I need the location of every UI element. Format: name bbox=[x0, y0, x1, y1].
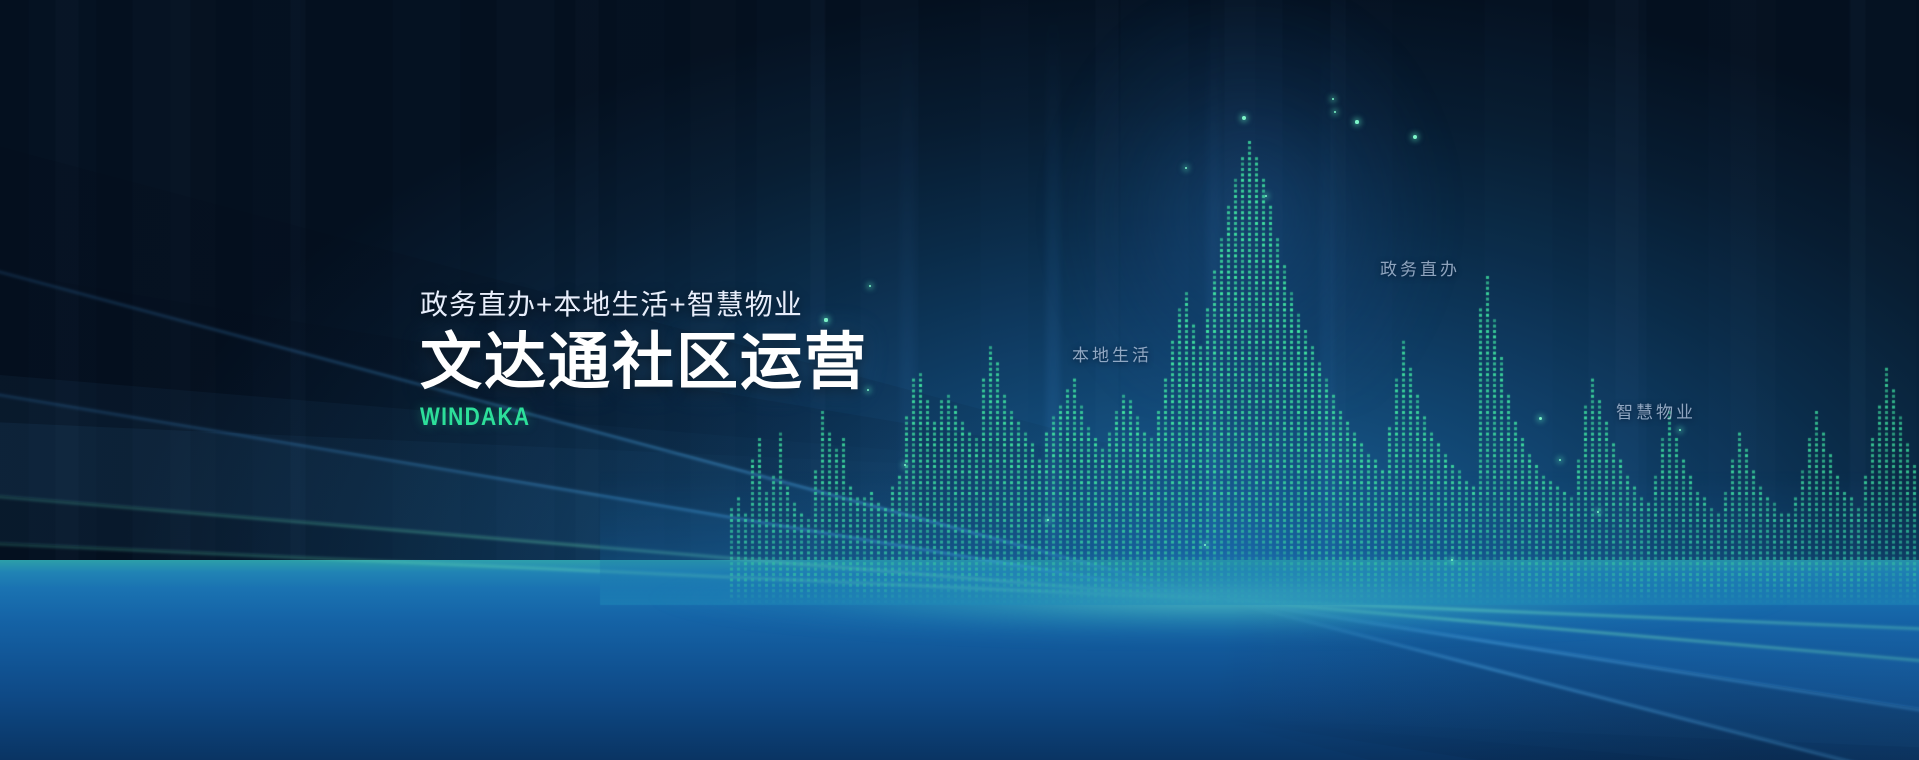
banner-subtitle: 政务直办+本地生活+智慧物业 bbox=[420, 288, 868, 322]
headline-block: 政务直办+本地生活+智慧物业 文达通社区运营 WINDAKA bbox=[420, 288, 868, 432]
banner-title: 文达通社区运营 bbox=[420, 328, 868, 397]
particle-5 bbox=[1413, 135, 1417, 139]
city-label-1: 政务直办 bbox=[1380, 255, 1460, 280]
city-label-3: 智慧物业 bbox=[1616, 398, 1696, 423]
particle-11 bbox=[1539, 417, 1542, 420]
city-label-2: 本地生活 bbox=[1072, 341, 1152, 366]
particle-2 bbox=[1355, 120, 1359, 124]
hero-banner: 政务直办本地生活智慧物业 政务直办+本地生活+智慧物业 文达通社区运营 WIND… bbox=[0, 0, 1919, 760]
light-beam-1 bbox=[1046, 0, 1060, 640]
light-beam-4 bbox=[900, 0, 914, 640]
light-beam-3 bbox=[1320, 0, 1334, 640]
light-beam-2 bbox=[1206, 0, 1220, 640]
ground-fill bbox=[0, 560, 1919, 760]
perspective-ground bbox=[0, 560, 1919, 760]
brand-wordmark: WINDAKA bbox=[420, 403, 796, 432]
tower-halo-glow bbox=[980, 0, 1520, 400]
